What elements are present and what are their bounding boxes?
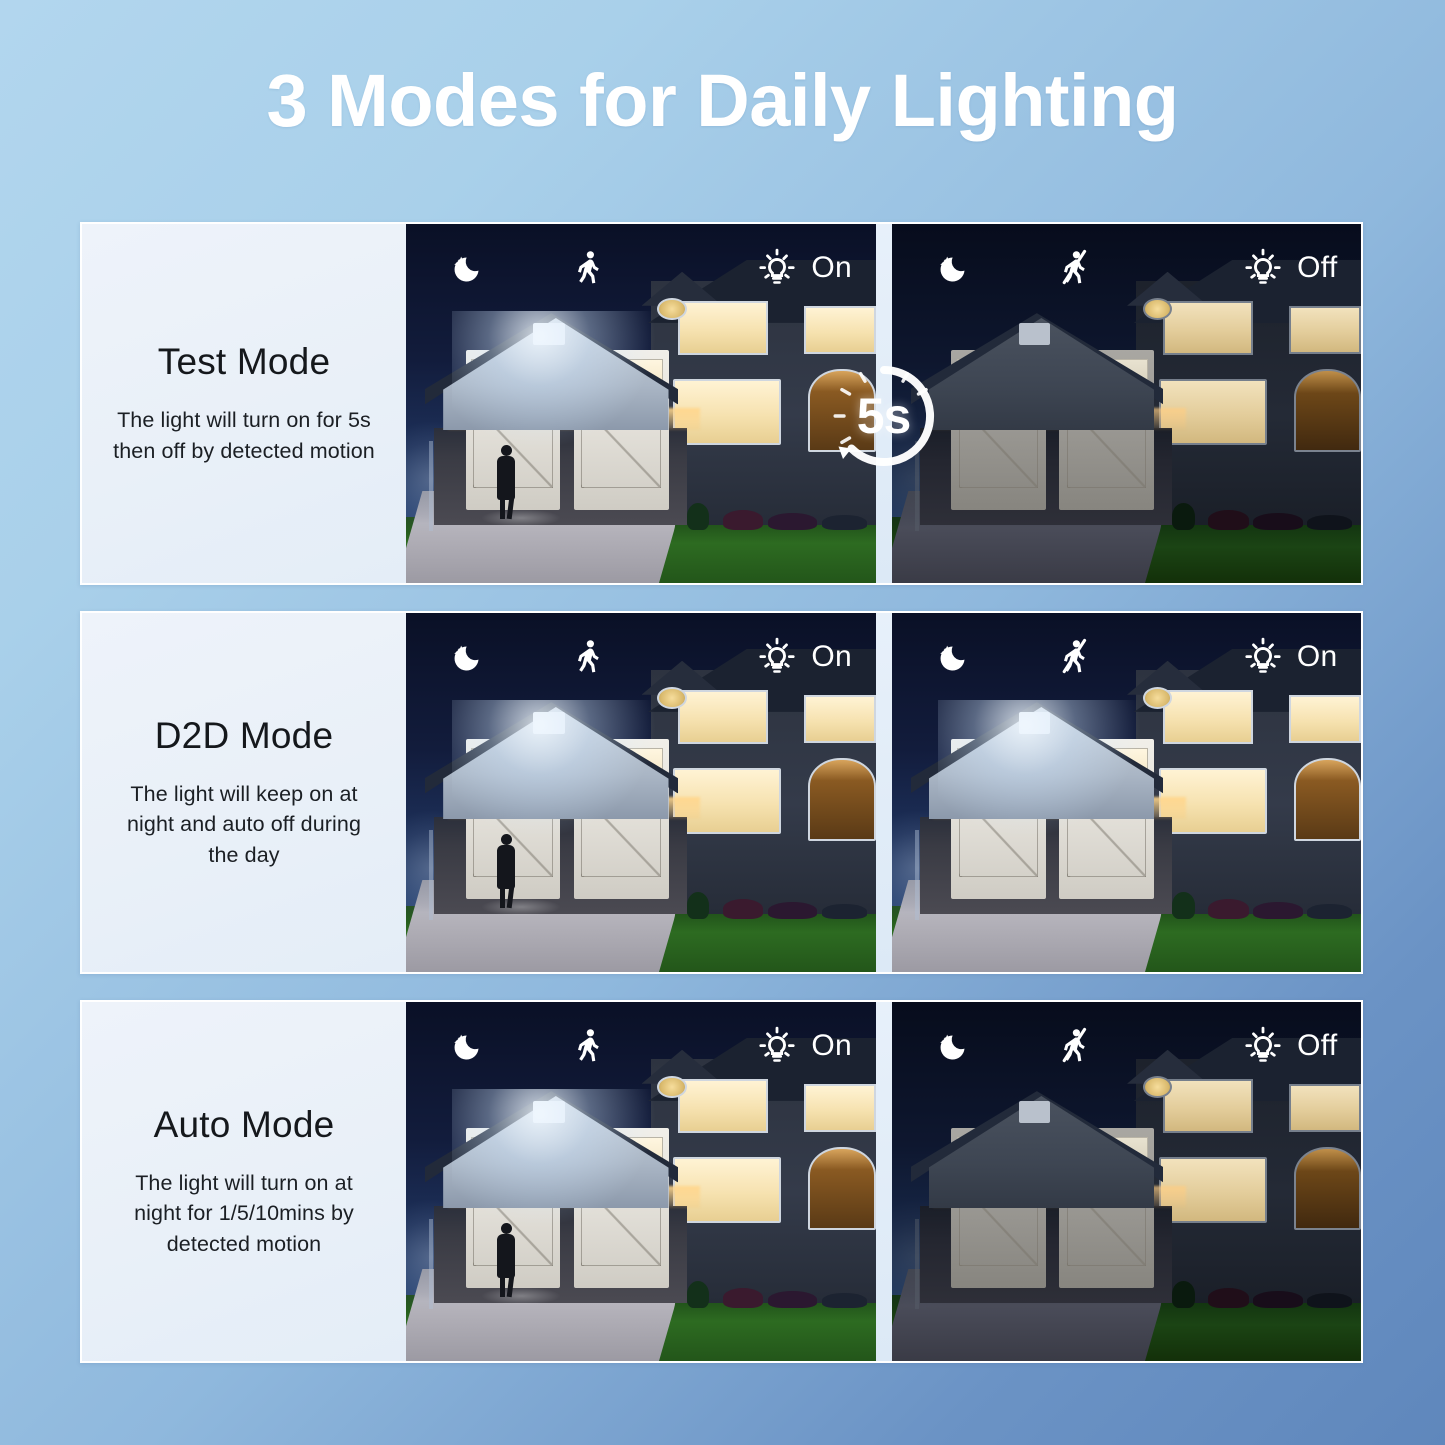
wall-light-fixture — [1019, 323, 1051, 345]
person-leg — [500, 886, 505, 908]
light-state-label: On — [811, 1029, 852, 1063]
shrub — [687, 503, 710, 530]
shrub — [723, 1288, 764, 1307]
photo-divider — [876, 1002, 892, 1361]
shrub — [1208, 899, 1249, 918]
mode-card: Auto ModeThe light will turn on at night… — [80, 1000, 1363, 1363]
night-scene-photo: Off — [892, 224, 1362, 583]
person-leg — [507, 1275, 515, 1297]
shrub — [822, 904, 867, 919]
night-scene-photo: On — [406, 613, 876, 972]
moon-stars-icon — [934, 248, 974, 288]
upper-window-right — [804, 695, 876, 744]
entry-door — [808, 1147, 875, 1230]
shrub — [1253, 513, 1303, 530]
light-state-label: Off — [1297, 1029, 1337, 1063]
photo-divider — [876, 613, 892, 972]
no-motion-icon — [1055, 1026, 1095, 1066]
mode-text-panel: Test ModeThe light will turn on for 5s t… — [82, 224, 406, 583]
person-head — [501, 445, 512, 456]
mode-title: Test Mode — [158, 341, 331, 383]
upper-window-right — [804, 1084, 876, 1133]
moon-stars-icon — [448, 1026, 488, 1066]
walking-person-icon — [569, 637, 609, 677]
house — [920, 670, 1361, 914]
walking-person — [495, 834, 517, 908]
status-icon-row: On — [406, 1002, 876, 1090]
person-shadow — [481, 509, 561, 527]
mode-title: Auto Mode — [154, 1104, 335, 1146]
light-bulb-icon — [756, 247, 798, 289]
shrub — [723, 510, 764, 529]
person-shadow — [481, 1287, 561, 1305]
wall-light-fixture — [1019, 712, 1051, 734]
person-leg — [500, 1275, 505, 1297]
upper-window-right — [1289, 1084, 1361, 1133]
person-leg — [507, 497, 515, 519]
light-bulb-icon — [1242, 636, 1284, 678]
shrub — [822, 515, 867, 530]
moon-stars-icon — [448, 637, 488, 677]
shrub — [1208, 1288, 1249, 1307]
night-scene-photo: On — [406, 224, 876, 583]
house — [920, 281, 1361, 525]
walking-person-icon — [569, 1026, 609, 1066]
moon-stars-icon — [448, 248, 488, 288]
upper-window-right — [1289, 695, 1361, 744]
light-bulb-icon — [756, 636, 798, 678]
status-icon-row: Off — [892, 1002, 1362, 1090]
mode-photo-pair: On — [406, 613, 1361, 972]
mode-text-panel: D2D ModeThe light will keep on at night … — [82, 613, 406, 972]
status-icon-row: On — [406, 613, 876, 701]
light-status-group: On — [1242, 636, 1338, 678]
shrub — [1307, 904, 1352, 919]
shrub — [723, 899, 764, 918]
light-state-label: On — [1297, 640, 1338, 674]
shrub — [687, 1281, 710, 1308]
shrub — [768, 513, 818, 530]
person-body — [497, 1234, 515, 1278]
light-bulb-icon — [1242, 247, 1284, 289]
mode-photo-pair: On — [406, 224, 1361, 583]
entry-door — [1294, 369, 1361, 452]
shrub — [1253, 902, 1303, 919]
wall-light-fixture — [533, 712, 565, 734]
person-body — [497, 456, 515, 500]
modes-list: Test ModeThe light will turn on for 5s t… — [80, 222, 1363, 1363]
person-shadow — [481, 898, 561, 916]
person-head — [501, 1223, 512, 1234]
light-status-group: On — [756, 1025, 852, 1067]
mode-card: D2D ModeThe light will keep on at night … — [80, 611, 1363, 974]
status-icon-row: On — [406, 224, 876, 312]
no-motion-icon — [1055, 637, 1095, 677]
mode-description: The light will turn on at night for 1/5/… — [112, 1168, 377, 1260]
night-scene-photo: On — [406, 1002, 876, 1361]
wall-light-fixture — [533, 1101, 565, 1123]
shrub — [1307, 1293, 1352, 1308]
entry-door — [1294, 1147, 1361, 1230]
light-status-group: On — [756, 247, 852, 289]
shrub — [687, 892, 710, 919]
light-bulb-icon — [756, 1025, 798, 1067]
mode-photo-pair: On — [406, 1002, 1361, 1361]
shrub — [1172, 892, 1195, 919]
status-icon-row: Off — [892, 224, 1362, 312]
page-title: 3 Modes for Daily Lighting — [266, 58, 1178, 143]
shrub — [768, 1291, 818, 1308]
walking-person — [495, 1223, 517, 1297]
shrub — [1208, 510, 1249, 529]
mode-card: Test ModeThe light will turn on for 5s t… — [80, 222, 1363, 585]
light-status-group: On — [756, 636, 852, 678]
no-motion-icon — [1055, 248, 1095, 288]
light-state-label: Off — [1297, 251, 1337, 285]
mode-text-panel: Auto ModeThe light will turn on at night… — [82, 1002, 406, 1361]
wall-light-fixture — [533, 323, 565, 345]
house — [920, 1059, 1361, 1303]
light-state-label: On — [811, 640, 852, 674]
entry-door — [808, 758, 875, 841]
entry-door — [808, 369, 875, 452]
page-header: 3 Modes for Daily Lighting — [0, 0, 1445, 200]
walking-person — [495, 445, 517, 519]
entry-door — [1294, 758, 1361, 841]
status-icon-row: On — [892, 613, 1362, 701]
person-leg — [500, 497, 505, 519]
light-bulb-icon — [1242, 1025, 1284, 1067]
night-scene-photo: On — [892, 613, 1362, 972]
person-leg — [507, 886, 515, 908]
light-status-group: Off — [1242, 1025, 1337, 1067]
shrub — [822, 1293, 867, 1308]
night-scene-photo: Off — [892, 1002, 1362, 1361]
mode-title: D2D Mode — [155, 715, 333, 757]
light-status-group: Off — [1242, 247, 1337, 289]
photo-divider — [876, 224, 892, 583]
moon-stars-icon — [934, 1026, 974, 1066]
shrub — [1307, 515, 1352, 530]
light-state-label: On — [811, 251, 852, 285]
upper-window-right — [804, 306, 876, 355]
mode-description: The light will turn on for 5s then off b… — [112, 405, 377, 466]
upper-window-right — [1289, 306, 1361, 355]
wall-light-fixture — [1019, 1101, 1051, 1123]
person-head — [501, 834, 512, 845]
shrub — [1172, 503, 1195, 530]
walking-person-icon — [569, 248, 609, 288]
person-body — [497, 845, 515, 889]
moon-stars-icon — [934, 637, 974, 677]
mode-description: The light will keep on at night and auto… — [112, 779, 377, 871]
shrub — [1253, 1291, 1303, 1308]
shrub — [768, 902, 818, 919]
shrub — [1172, 1281, 1195, 1308]
